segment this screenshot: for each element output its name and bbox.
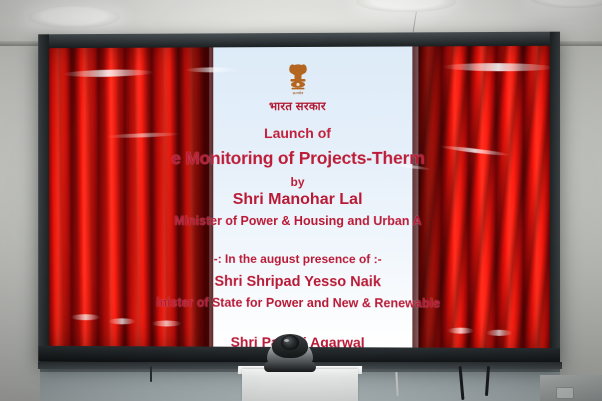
display-panel: सत्यमेव भारत सरकार Launch of e Monitorin… [49, 46, 550, 348]
left-wall [0, 0, 42, 401]
chief-guest-name: Shri Manohar Lal [49, 191, 550, 209]
display-bezel-left [38, 34, 49, 361]
guest2-name: Shri Shripad Yesso Naik [49, 273, 550, 290]
conference-room-photo: सत्यमेव भारत सरकार Launch of e Monitorin… [0, 0, 602, 401]
slide-text-block: सत्यमेव भारत सरकार Launch of e Monitorin… [49, 46, 550, 348]
wall-power-socket [556, 387, 574, 399]
slide-title: e Monitoring of Projects-Therm [49, 148, 550, 170]
hanging-cable [150, 366, 152, 382]
state-emblem-of-india-icon: सत्यमेव [285, 61, 311, 99]
august-presence-line: -: In the august presence of :- [49, 252, 550, 267]
white-equipment-cabinet [242, 369, 358, 401]
display-bezel-right [550, 32, 560, 365]
ptz-conference-camera [262, 330, 318, 372]
slide-launch-line: Launch of [49, 124, 550, 141]
right-wall [554, 28, 602, 401]
chief-guest-designation: Minister of Power & Housing and Urban A [49, 214, 550, 228]
slide-by-label: by [49, 175, 550, 189]
wall-mounted-led-display: सत्यमेव भारत सरकार Launch of e Monitorin… [38, 32, 560, 365]
svg-text:सत्यमेव: सत्यमेव [292, 90, 304, 95]
camera-lens-icon [281, 335, 299, 350]
camera-lens-glint [284, 339, 289, 342]
guest2-designation: inister of State for Power and New & Ren… [49, 295, 550, 311]
slide-hindi-header: भारत सरकार [49, 98, 550, 114]
recessed-ceiling-downlight [28, 6, 120, 28]
